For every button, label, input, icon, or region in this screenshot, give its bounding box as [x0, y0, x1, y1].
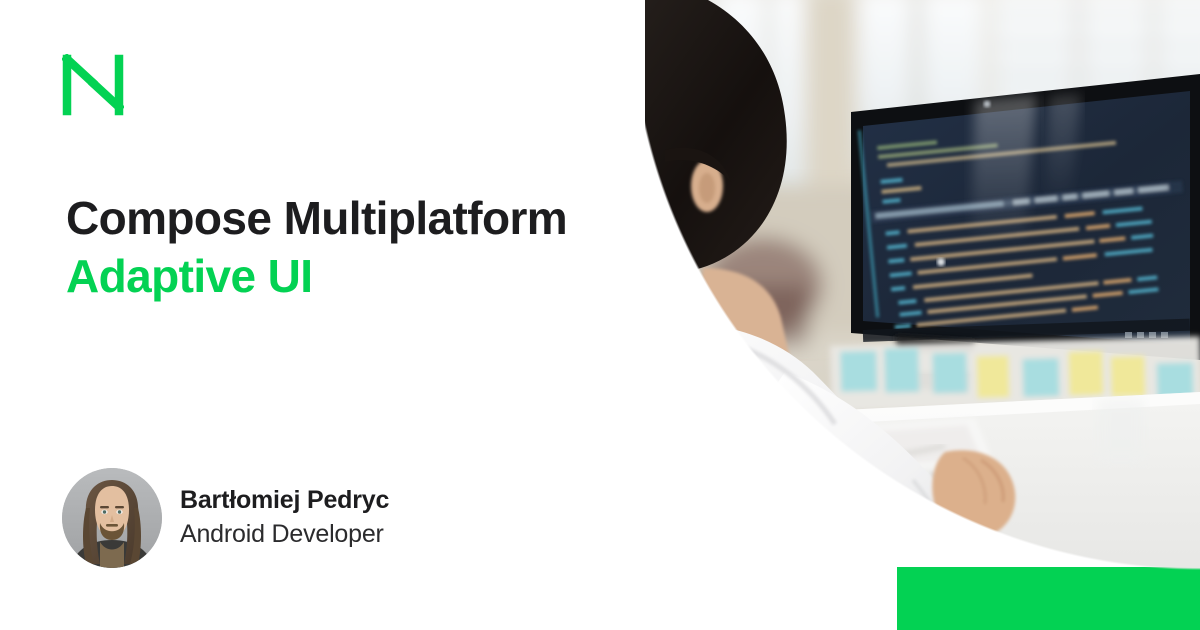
avatar	[62, 468, 162, 568]
author-block: Bartłomiej Pedryc Android Developer	[62, 468, 389, 568]
headline-line-2: Adaptive UI	[66, 251, 636, 303]
developer-at-monitor-photo	[645, 0, 1200, 630]
n-letter-logo-icon	[62, 54, 124, 116]
author-role: Android Developer	[180, 518, 389, 551]
headline: Compose Multiplatform Adaptive UI	[66, 193, 636, 302]
headline-line-1: Compose Multiplatform	[66, 193, 636, 245]
author-name: Bartłomiej Pedryc	[180, 485, 389, 516]
author-text: Bartłomiej Pedryc Android Developer	[180, 485, 389, 551]
slide-canvas: Compose Multiplatform Adaptive UI	[0, 0, 1200, 630]
hero-image-mask	[645, 0, 1200, 630]
left-content-column: Compose Multiplatform Adaptive UI	[0, 0, 645, 630]
